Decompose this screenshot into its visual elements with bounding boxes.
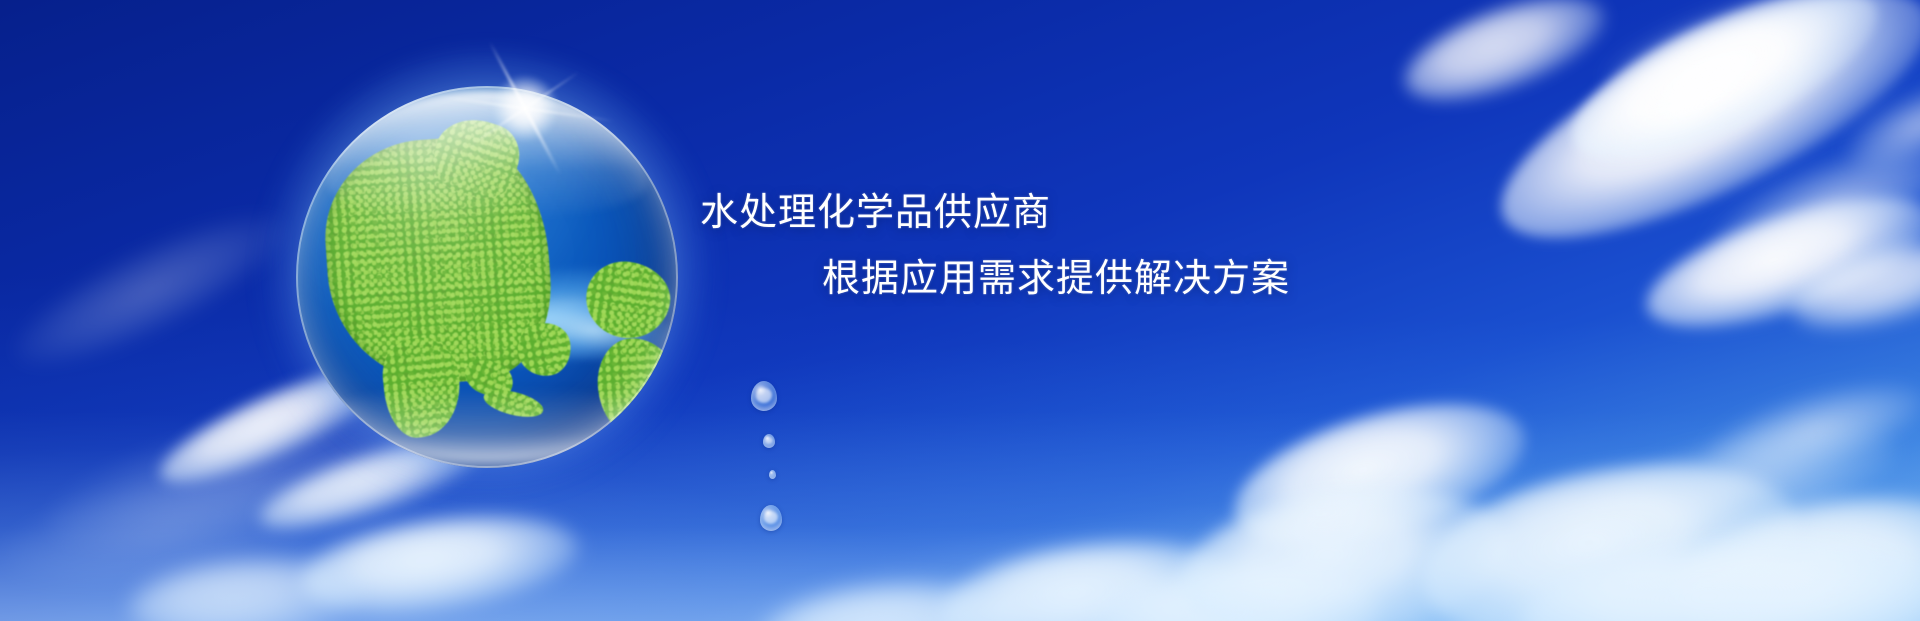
cloud-bottom-right-5 (1516, 530, 1920, 621)
cloud-top-right-main (1471, 0, 1920, 285)
cloud-top-right-main-core (1552, 0, 1898, 192)
cloud-wisp-top-right-1 (1597, 0, 1904, 115)
water-droplet-medium (763, 434, 775, 448)
hero-banner: 水处理化学品供应商 根据应用需求提供解决方案 (0, 0, 1920, 621)
cloud-bottom-right-1 (1219, 376, 1540, 574)
cloud-top-right-small (1393, 0, 1617, 122)
droplet-reflection (764, 511, 778, 524)
headline-line-2: 根据应用需求提供解决方案 (822, 252, 1920, 306)
cloud-bottom-right-2 (1171, 468, 1519, 621)
cloud-wisp-bottom-right-2 (1554, 400, 1907, 574)
cloud-bottom-center-1 (757, 576, 1023, 621)
cloud-bottom-center-2 (934, 527, 1245, 621)
globe-graphic (296, 86, 678, 468)
cloud-wisp-bottom-right-1 (1695, 365, 1920, 496)
cloud-wisp-top-right-2 (1694, 119, 1920, 295)
cloud-wisp-top-right-3 (1835, 64, 1920, 186)
cloud-left-lower-2 (127, 550, 363, 621)
globe-sphere (296, 86, 678, 468)
cloud-bottom-right-3 (1409, 438, 1812, 621)
water-droplet-lower (760, 505, 782, 531)
landmass-southeast-asia-2 (481, 385, 546, 422)
cloud-wisp-lower-left (0, 452, 336, 608)
horizon-haze (0, 411, 1920, 621)
droplet-reflection (756, 388, 773, 403)
water-droplet-large (751, 381, 777, 411)
cloud-bottom-center-3 (1096, 553, 1385, 621)
cloud-wisp-upper-left (0, 188, 302, 391)
water-droplet-small (769, 470, 776, 479)
cloud-right-middle-1 (1633, 171, 1920, 354)
droplet-reflection (765, 437, 773, 444)
headline-line-1: 水处理化学品供应商 (700, 186, 1920, 240)
cloud-left-lower-1 (295, 501, 585, 621)
cloud-right-middle-2 (1784, 225, 1920, 344)
cloud-bottom-right-4 (1673, 483, 1920, 621)
